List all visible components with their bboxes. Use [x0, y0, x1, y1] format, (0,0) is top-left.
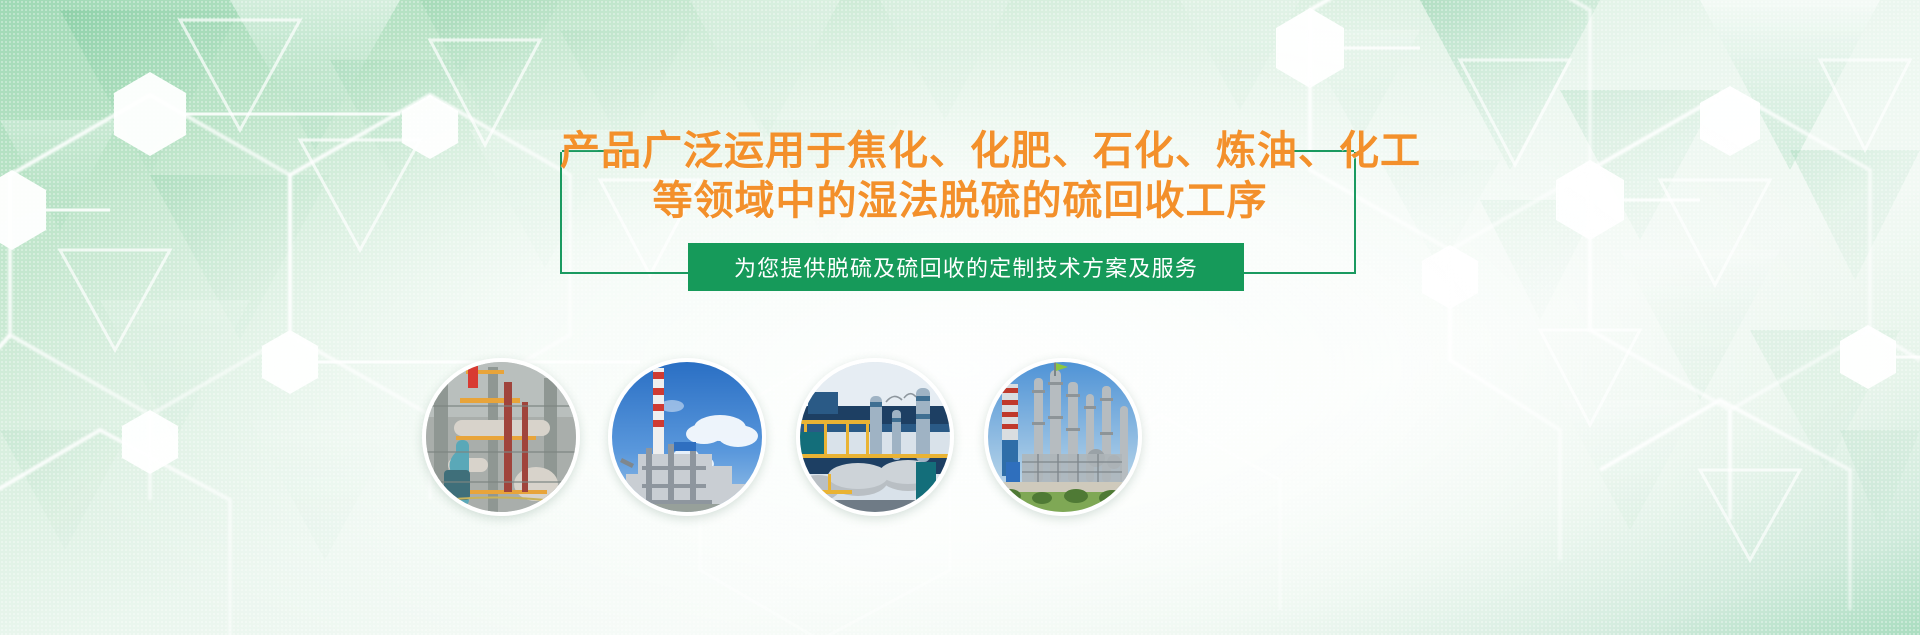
subtitle-text: 为您提供脱硫及硫回收的定制技术方案及服务 [734, 251, 1198, 283]
stack-plant-photo [608, 358, 766, 516]
subtitle-banner: 为您提供脱硫及硫回收的定制技术方案及服务 [688, 243, 1244, 291]
tank-platform-photo [796, 358, 954, 516]
distillation-towers-photo [984, 358, 1142, 516]
hero-banner: 产品广泛运用于焦化、化肥、石化、炼油、化工 等领域中的湿法脱硫的硫回收工序 为您… [0, 0, 1920, 635]
stack-plant-image [612, 362, 762, 512]
refinery-piping-photo [422, 358, 580, 516]
distillation-towers-image [988, 362, 1138, 512]
headline: 产品广泛运用于焦化、化肥、石化、炼油、化工 等领域中的湿法脱硫的硫回收工序 [560, 126, 1360, 226]
refinery-piping-image [426, 362, 576, 512]
photo-strip [0, 358, 1920, 538]
headline-line-2: 等领域中的湿法脱硫的硫回收工序 [560, 176, 1360, 226]
headline-line-1: 产品广泛运用于焦化、化肥、石化、炼油、化工 [560, 129, 1421, 173]
tank-platform-image [800, 362, 950, 512]
